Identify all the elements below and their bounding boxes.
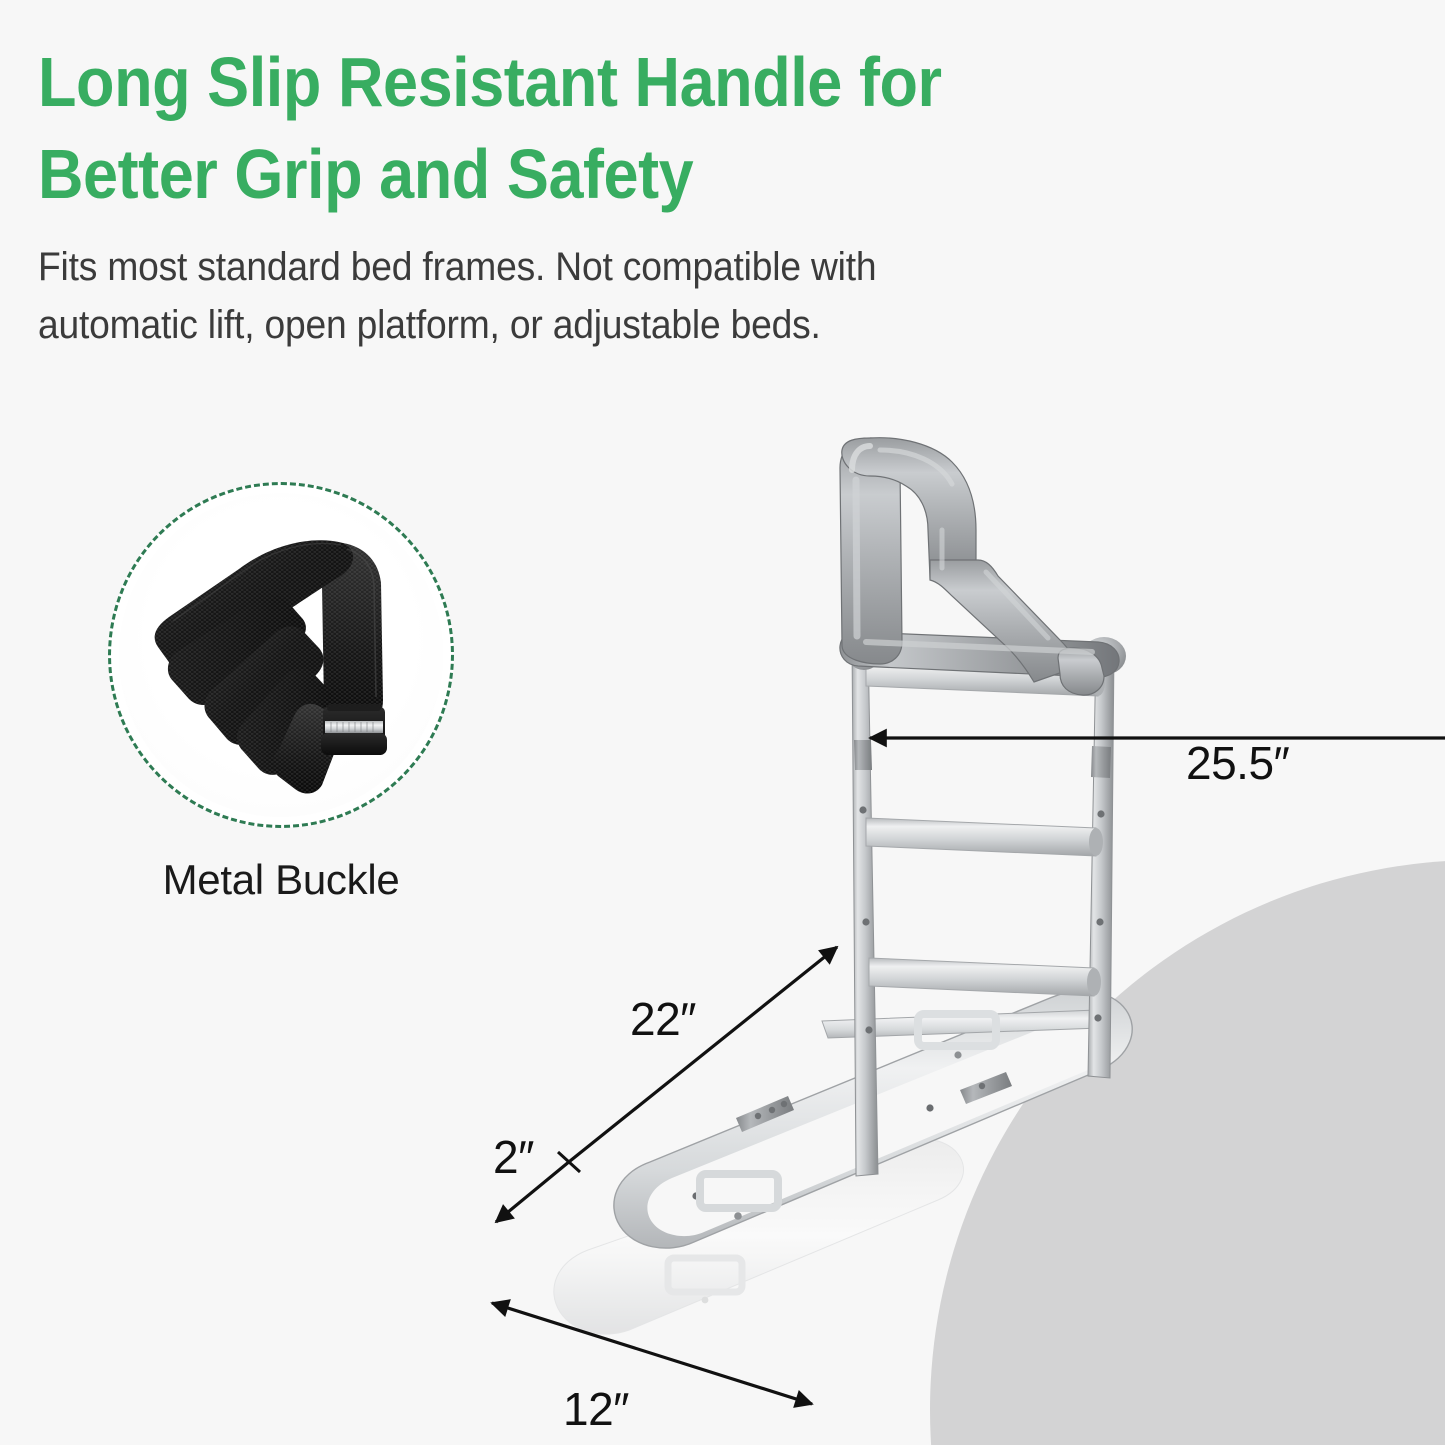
- ladder-post-left: [852, 642, 878, 1176]
- webbing-strap-icon: [111, 485, 451, 825]
- infographic-canvas: Long Slip Resistant Handle for Better Gr…: [0, 0, 1445, 1445]
- metal-buckle-callout: Metal Buckle: [108, 482, 460, 922]
- metal-buckle-detail: [321, 704, 387, 755]
- ladder-rung-bottom: [869, 958, 1101, 996]
- page-title-line-2: Better Grip and Safety: [38, 128, 1010, 220]
- page-subtitle: Fits most standard bed frames. Not compa…: [38, 238, 1033, 354]
- page-subtitle-line-1: Fits most standard bed frames. Not compa…: [38, 238, 1033, 296]
- metal-buckle-label: Metal Buckle: [108, 856, 454, 904]
- page-subtitle-line-2: automatic lift, open platform, or adjust…: [38, 296, 1033, 354]
- dimension-offset-2: 2″: [493, 1130, 534, 1184]
- page-title: Long Slip Resistant Handle for Better Gr…: [38, 36, 1010, 221]
- ladder-post-right: [1088, 648, 1114, 1078]
- page-title-line-1: Long Slip Resistant Handle for: [38, 36, 1010, 128]
- dimension-base-width-12: 12″: [563, 1382, 629, 1436]
- dimension-depth-22: 22″: [630, 992, 696, 1046]
- product-illustration: [500, 410, 1200, 1390]
- dimension-height-25-5: 25.5″: [1186, 736, 1289, 790]
- dashed-circle-frame: [108, 482, 454, 828]
- grip-handle: [840, 438, 1119, 695]
- ladder-rung-middle: [866, 818, 1103, 856]
- bed-assist-rail-drawing: [500, 410, 1200, 1390]
